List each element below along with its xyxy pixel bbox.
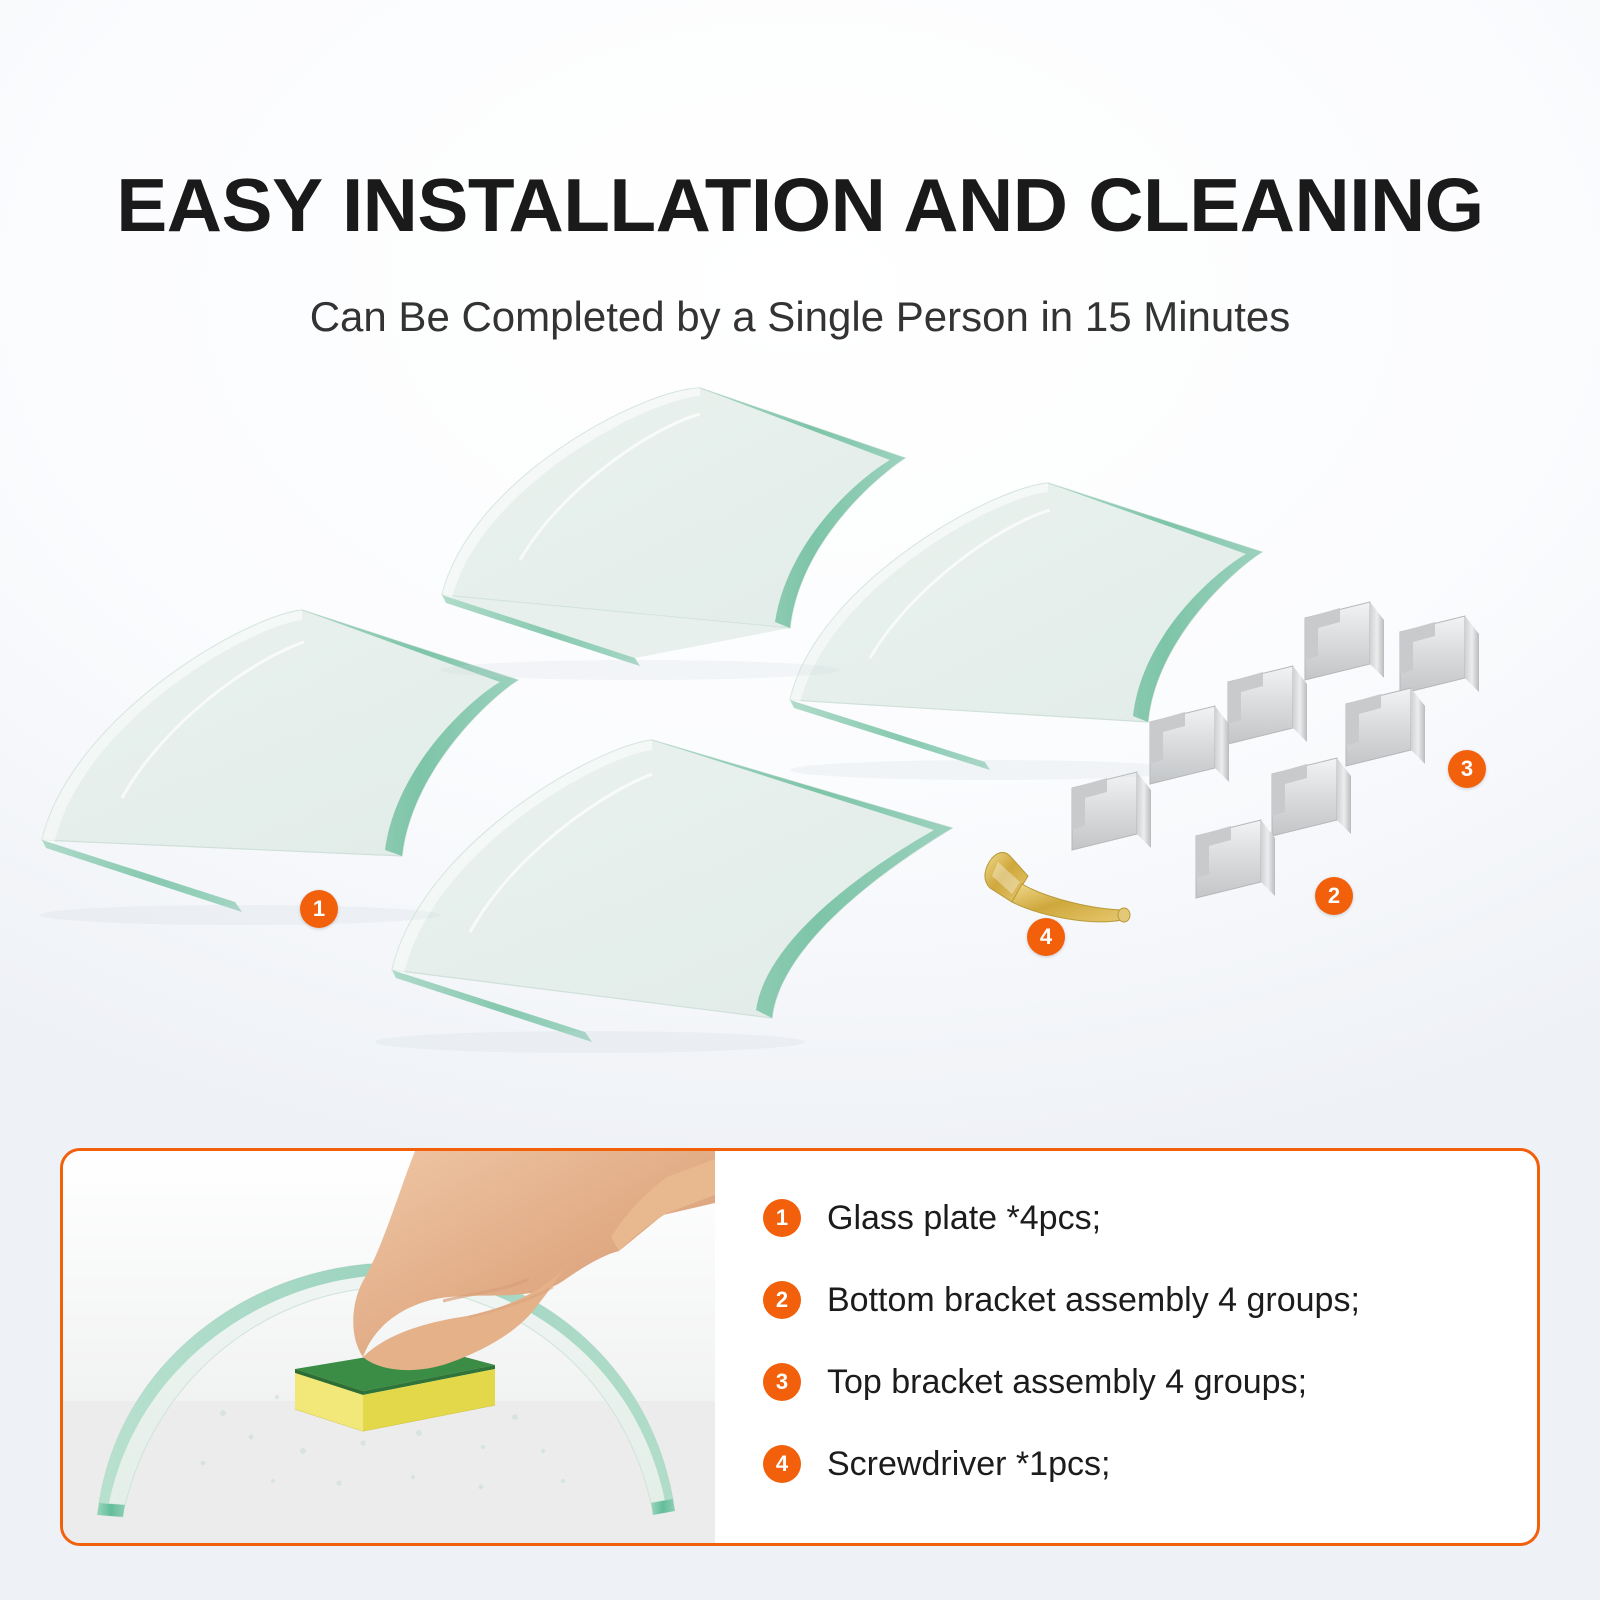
legend-badge-1: 1 bbox=[763, 1199, 801, 1237]
legend-badge-3: 3 bbox=[763, 1363, 801, 1401]
glass-plate-front bbox=[392, 740, 952, 1042]
cleaning-demo-card: 1 Glass plate *4pcs; 2 Bottom bracket as… bbox=[60, 1148, 1540, 1546]
screwdriver-tool bbox=[985, 852, 1130, 922]
legend-badge-4: 4 bbox=[763, 1445, 801, 1483]
callout-badge-2: 2 bbox=[1315, 877, 1353, 915]
cleaning-photo bbox=[63, 1151, 715, 1543]
cleaning-photo-svg bbox=[63, 1151, 715, 1543]
parts-legend-list: 1 Glass plate *4pcs; 2 Bottom bracket as… bbox=[763, 1177, 1523, 1505]
bracket-piece bbox=[1196, 820, 1275, 898]
legend-label-3: Top bracket assembly 4 groups; bbox=[827, 1363, 1307, 1402]
callout-badge-4: 4 bbox=[1027, 918, 1065, 956]
product-infographic: EASY INSTALLATION AND CLEANING Can Be Co… bbox=[0, 0, 1600, 1600]
legend-label-4: Screwdriver *1pcs; bbox=[827, 1445, 1110, 1484]
legend-item-2: 2 Bottom bracket assembly 4 groups; bbox=[763, 1259, 1523, 1341]
parts-illustration-svg bbox=[0, 370, 1600, 1130]
bracket-piece bbox=[1400, 616, 1479, 694]
bracket-piece bbox=[1072, 772, 1151, 850]
callout-badge-3: 3 bbox=[1448, 750, 1486, 788]
parts-layout-illustration: 1 2 3 4 bbox=[0, 370, 1600, 1130]
callout-badge-1: 1 bbox=[300, 890, 338, 928]
page-subtitle: Can Be Completed by a Single Person in 1… bbox=[0, 296, 1600, 338]
page-title: EASY INSTALLATION AND CLEANING bbox=[0, 168, 1600, 243]
legend-label-1: Glass plate *4pcs; bbox=[827, 1199, 1101, 1238]
bracket-piece bbox=[1272, 758, 1351, 836]
legend-item-4: 4 Screwdriver *1pcs; bbox=[763, 1423, 1523, 1505]
legend-item-3: 3 Top bracket assembly 4 groups; bbox=[763, 1341, 1523, 1423]
bracket-piece bbox=[1346, 688, 1425, 766]
legend-label-2: Bottom bracket assembly 4 groups; bbox=[827, 1281, 1360, 1320]
bracket-group-bottom bbox=[1072, 706, 1351, 898]
bracket-piece bbox=[1305, 602, 1384, 680]
bracket-piece bbox=[1228, 666, 1307, 744]
legend-badge-2: 2 bbox=[763, 1281, 801, 1319]
glass-plate-left bbox=[42, 610, 518, 912]
legend-item-1: 1 Glass plate *4pcs; bbox=[763, 1177, 1523, 1259]
bracket-group-top bbox=[1228, 602, 1479, 766]
